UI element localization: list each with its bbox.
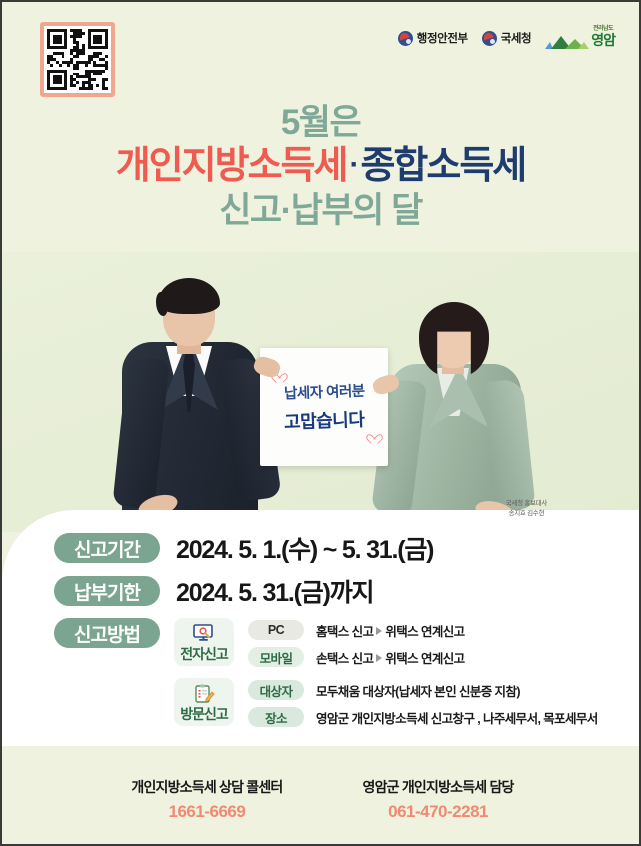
arrow-right-icon: [376, 627, 382, 635]
models-photo: 납세자 여러분 고맙습니다 국세청 홍보대사 송지효 김수현: [2, 252, 641, 532]
text-pc-after: 위택스 연계신고: [385, 625, 464, 639]
poster-header: 행정안전부 국세청 전라남도 영암: [2, 2, 639, 98]
government-emblem-icon: [398, 31, 413, 46]
logo-label-yeongam: 전라남도 영암: [591, 26, 615, 50]
logo-yeongam-county: 전라남도 영암: [545, 26, 615, 50]
title-separator-dot: ·: [346, 148, 360, 181]
monitor-search-icon: [178, 623, 230, 645]
logo-label-nts: 국세청: [501, 30, 532, 46]
arrow-right-icon: [376, 654, 382, 662]
sub-row-target: 대상자 모두채움 대상자(납세자 본인 신분증 지참): [248, 678, 598, 702]
info-section: 신고기간 2024. 5. 1.(수) ~ 5. 31.(금) 납부기한 202…: [2, 530, 641, 729]
mountain-icon: [545, 33, 589, 50]
male-hair: [158, 278, 220, 314]
visit-filing-rows: 대상자 모두채움 대상자(납세자 본인 신분증 지참) 장소 영암군 개인지방소…: [248, 678, 598, 729]
text-location-description: 영암군 개인지방소득세 신고창구 , 나주세무서, 목포세무서: [316, 708, 598, 727]
qr-code-pattern: [47, 29, 108, 90]
electronic-filing-rows: PC 홈택스 신고위택스 연계신고 모바일 손택스 신고위택스 연계신고: [248, 618, 465, 669]
female-model: [381, 302, 531, 532]
logo-group: 행정안전부 국세청 전라남도 영암: [398, 26, 615, 50]
footer-yeongam-contact-title: 영암군 개인지방소득세 담당: [363, 777, 514, 797]
group-electronic-filing: 전자신고 PC 홈택스 신고위택스 연계신고 모바일 손택스 신고위택스 연계신…: [174, 618, 598, 669]
qr-code[interactable]: [40, 22, 115, 97]
value-payment-deadline: 2024. 5. 31.(금)까지: [176, 573, 373, 609]
row-filing-period: 신고기간 2024. 5. 1.(수) ~ 5. 31.(금): [2, 530, 641, 566]
label-payment-deadline: 납부기한: [54, 576, 160, 606]
label-visit-filing: 방문신고: [178, 706, 230, 722]
row-filing-method: 신고방법: [2, 618, 641, 729]
logo-label-ministry: 행정안전부: [417, 30, 468, 46]
logo-national-tax-service: 국세청: [482, 30, 532, 46]
text-pc-before: 홈택스 신고: [316, 625, 373, 639]
male-model: [120, 280, 270, 532]
sub-row-mobile: 모바일 손택스 신고위택스 연계신고: [248, 645, 465, 669]
text-mobile-after: 위택스 연계신고: [385, 652, 464, 666]
text-mobile-instruction: 손택스 신고위택스 연계신고: [316, 648, 465, 667]
label-electronic-filing: 전자신고: [178, 646, 230, 662]
footer-call-center-title: 개인지방소득세 상담 콜센터: [131, 777, 282, 797]
sign-line-2: 고맙습니다: [283, 406, 364, 435]
sign-line-1: 납세자 여러분: [283, 380, 364, 404]
label-filing-method: 신고방법: [54, 618, 160, 648]
logo-ministry-of-interior-and-safety: 행정안전부: [398, 30, 468, 46]
row-payment-deadline: 납부기한 2024. 5. 31.(금)까지: [2, 573, 641, 609]
credit-line-2: 송지효 김수현: [506, 509, 547, 518]
tag-location: 장소: [248, 707, 304, 727]
title-personal-local-income-tax: 개인지방소득세: [116, 145, 347, 187]
credit-line-1: 국세청 홍보대사: [506, 499, 547, 508]
footer-call-center: 개인지방소득세 상담 콜센터 1661-6669: [131, 777, 282, 822]
filing-method-groups: 전자신고 PC 홈택스 신고위택스 연계신고 모바일 손택스 신고위택스 연계신…: [174, 618, 598, 729]
sub-row-pc: PC 홈택스 신고위택스 연계신고: [248, 618, 465, 642]
poster-title: 5월은 개인지방소득세·종합소득세 신고·납부의 달: [2, 102, 639, 232]
title-line-1: 5월은: [2, 102, 639, 143]
model-credit: 국세청 홍보대사 송지효 김수현: [506, 499, 547, 518]
footer-yeongam-contact: 영암군 개인지방소득세 담당 061-470-2281: [363, 777, 514, 822]
government-emblem-icon: [482, 31, 497, 46]
value-filing-period: 2024. 5. 1.(수) ~ 5. 31.(금): [176, 530, 433, 566]
card-electronic-filing[interactable]: 전자신고: [174, 618, 234, 666]
sub-row-location: 장소 영암군 개인지방소득세 신고창구 , 나주세무서, 목포세무서: [248, 705, 598, 729]
tag-mobile: 모바일: [248, 647, 304, 667]
group-visit-filing: 방문신고 대상자 모두채움 대상자(납세자 본인 신분증 지참) 장소 영암군 …: [174, 678, 598, 729]
text-target-description: 모두채움 대상자(납세자 본인 신분증 지참): [316, 681, 520, 700]
footer-call-center-number[interactable]: 1661-6669: [131, 802, 282, 822]
tag-target: 대상자: [248, 680, 304, 700]
text-pc-instruction: 홈택스 신고위택스 연계신고: [316, 621, 465, 640]
heart-icon: [371, 435, 380, 444]
poster-root: 행정안전부 국세청 전라남도 영암: [0, 0, 641, 846]
title-line-2: 개인지방소득세·종합소득세: [2, 143, 639, 189]
clipboard-pencil-icon: [178, 683, 230, 705]
title-line-3: 신고·납부의 달: [2, 190, 639, 233]
card-visit-filing[interactable]: 방문신고: [174, 678, 234, 726]
text-mobile-before: 손택스 신고: [316, 652, 373, 666]
poster-footer: 개인지방소득세 상담 콜센터 1661-6669 영암군 개인지방소득세 담당 …: [2, 746, 641, 844]
title-comprehensive-income-tax: 종합소득세: [360, 145, 525, 187]
tag-pc: PC: [248, 620, 304, 640]
footer-yeongam-contact-number[interactable]: 061-470-2281: [363, 802, 514, 822]
label-filing-period: 신고기간: [54, 533, 160, 563]
